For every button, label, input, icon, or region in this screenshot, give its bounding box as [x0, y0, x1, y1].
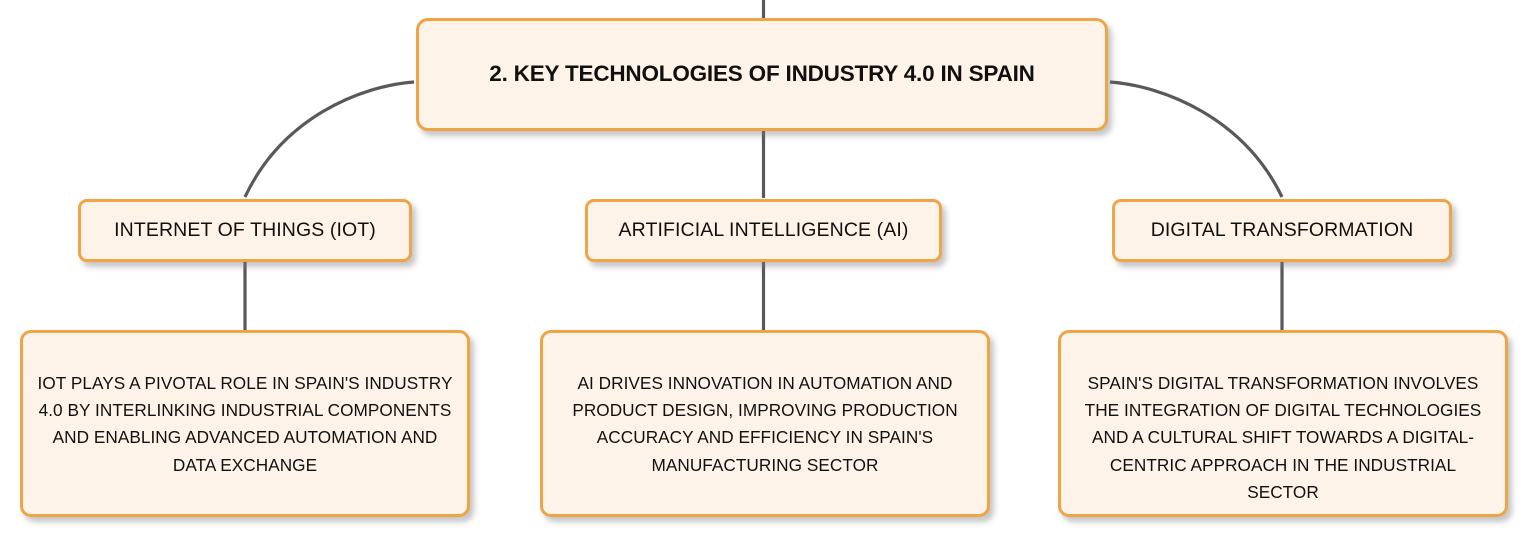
- root-node-label: 2. KEY TECHNOLOGIES OF INDUSTRY 4.0 IN S…: [489, 62, 1034, 87]
- connector-root-to-iot: [245, 82, 414, 197]
- root-node[interactable]: 2. KEY TECHNOLOGIES OF INDUSTRY 4.0 IN S…: [416, 18, 1108, 131]
- connector-root-to-dt: [1110, 82, 1282, 197]
- branch-node-artificial-intelligence[interactable]: ARTIFICIAL INTELLIGENCE (AI): [585, 199, 942, 262]
- branch-node-digital-transformation[interactable]: DIGITAL TRANSFORMATION: [1112, 199, 1452, 262]
- branch-node-label: DIGITAL TRANSFORMATION: [1151, 220, 1414, 241]
- description-node-text: AI DRIVES INNOVATION IN AUTOMATION AND P…: [557, 370, 973, 479]
- mindmap-diagram: 2. KEY TECHNOLOGIES OF INDUSTRY 4.0 IN S…: [0, 0, 1527, 537]
- description-node-text: IOT PLAYS A PIVOTAL ROLE IN SPAIN'S INDU…: [37, 370, 453, 479]
- branch-node-internet-of-things[interactable]: INTERNET OF THINGS (IOT): [78, 199, 412, 262]
- description-node-artificial-intelligence[interactable]: AI DRIVES INNOVATION IN AUTOMATION AND P…: [540, 330, 990, 517]
- description-node-internet-of-things[interactable]: IOT PLAYS A PIVOTAL ROLE IN SPAIN'S INDU…: [20, 330, 470, 517]
- description-node-digital-transformation[interactable]: SPAIN'S DIGITAL TRANSFORMATION INVOLVES …: [1058, 330, 1508, 517]
- branch-node-label: ARTIFICIAL INTELLIGENCE (AI): [619, 220, 909, 241]
- branch-node-label: INTERNET OF THINGS (IOT): [114, 220, 376, 241]
- description-node-text: SPAIN'S DIGITAL TRANSFORMATION INVOLVES …: [1075, 370, 1491, 506]
